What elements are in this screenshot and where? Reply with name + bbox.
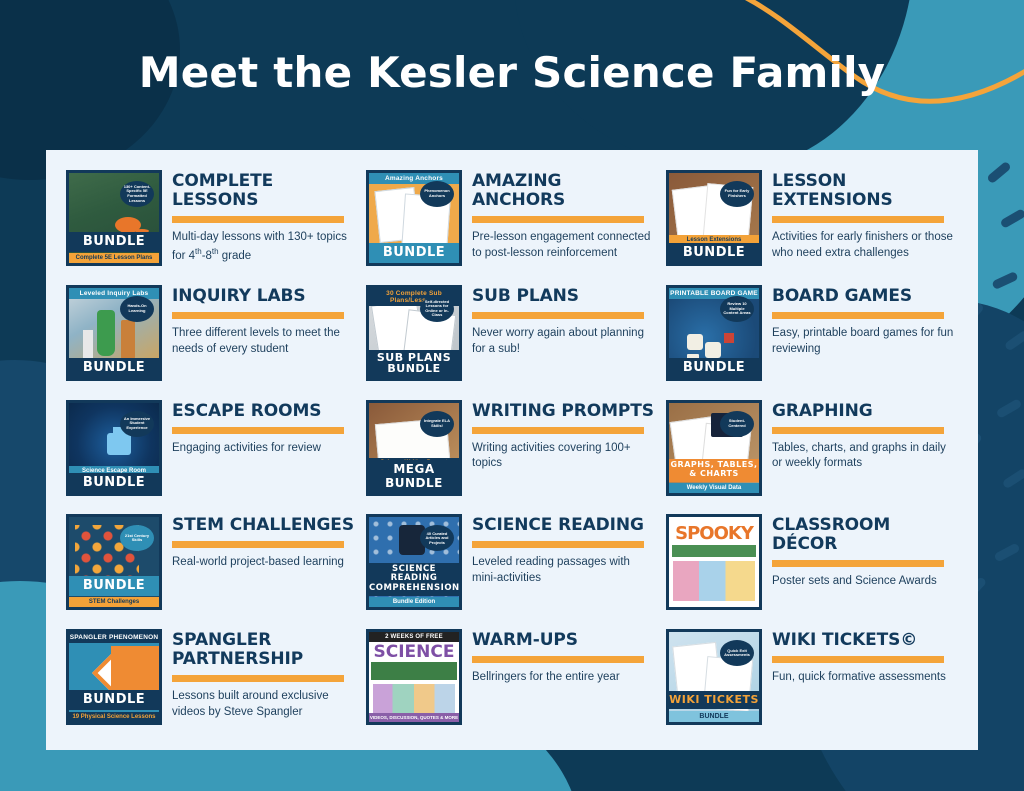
thumbnail-badge: 130+ Content-Specific 5E Formatted Lesso… bbox=[120, 181, 154, 207]
thumbnail-subcaption: Weekly Visual Data bbox=[669, 483, 759, 493]
product-item[interactable]: 30 Complete Sub Plans/Lessons Self-direc… bbox=[366, 281, 658, 396]
product-title: BOARD GAMES bbox=[772, 287, 958, 306]
product-text: INQUIRY LABS Three different levels to m… bbox=[172, 285, 358, 358]
product-description: Easy, printable board games for fun revi… bbox=[772, 326, 958, 358]
product-title: INQUIRY LABS bbox=[172, 287, 358, 306]
product-thumbnail[interactable]: 40 Curated Articles and Projects Bundle … bbox=[366, 514, 462, 610]
product-description: Pre-lesson engagement connected to post-… bbox=[472, 230, 658, 262]
product-title: COMPLETE LESSONS bbox=[172, 172, 358, 210]
thumbnail-caption: BUNDLE bbox=[669, 243, 759, 263]
product-item[interactable]: Leveled Inquiry Labs Hands-On Learning B… bbox=[66, 281, 358, 396]
product-item[interactable]: Amazing Anchors Phenomenon Anchors BUNDL… bbox=[366, 166, 658, 281]
thumbnail-subcaption: BUNDLE bbox=[669, 711, 759, 722]
product-item[interactable]: SPANGLER PHENOMENON 19 Physical Science … bbox=[66, 625, 358, 740]
accent-rule bbox=[772, 656, 944, 663]
thumbnail-caption: BUNDLE bbox=[369, 243, 459, 263]
accent-rule bbox=[172, 541, 344, 548]
product-description: Activities for early finishers or those … bbox=[772, 230, 958, 262]
accent-rule bbox=[172, 216, 344, 223]
accent-rule bbox=[772, 216, 944, 223]
product-title: SUB PLANS bbox=[472, 287, 658, 306]
product-thumbnail[interactable]: An Immersive Student Experience Science … bbox=[66, 400, 162, 496]
thumbnail-subcaption: Complete 5E Lesson Plans bbox=[69, 253, 159, 263]
product-item[interactable]: Integrate ELA Skills! Science Writing Pr… bbox=[366, 396, 658, 511]
product-description: Poster sets and Science Awards bbox=[772, 574, 958, 590]
poster-canvas: Meet the Kesler Science Family 130+ Cont… bbox=[0, 0, 1024, 791]
decor-dash bbox=[993, 542, 1020, 562]
thumbnail-art: SCIENCE bbox=[369, 632, 459, 722]
product-title: SCIENCE READING bbox=[472, 516, 658, 535]
product-text: WARM-UPS Bellringers for the entire year bbox=[472, 629, 658, 686]
page-title: Meet the Kesler Science Family bbox=[0, 48, 1024, 97]
product-description: Leveled reading passages with mini-activ… bbox=[472, 555, 658, 587]
accent-rule bbox=[472, 541, 644, 548]
thumbnail-subcaption: VIDEOS, DISCUSSION, QUOTES & MORE bbox=[369, 713, 459, 722]
thumbnail-caption: BUNDLE bbox=[69, 232, 159, 252]
product-thumbnail[interactable]: Integrate ELA Skills! Science Writing Pr… bbox=[366, 400, 462, 496]
product-item[interactable]: 21st Century Skills STEM Challenges BUND… bbox=[66, 510, 358, 625]
product-thumbnail[interactable]: Student-Centered Weekly Visual Data GRAP… bbox=[666, 400, 762, 496]
thumbnail-caption: BUNDLE bbox=[69, 576, 159, 596]
product-grid: 130+ Content-Specific 5E Formatted Lesso… bbox=[66, 166, 958, 740]
product-title: SPANGLER PARTNERSHIP bbox=[172, 631, 358, 669]
product-title: ESCAPE ROOMS bbox=[172, 402, 358, 421]
decor-dash bbox=[1002, 468, 1024, 490]
product-text: SCIENCE READING Leveled reading passages… bbox=[472, 514, 658, 587]
decor-dash bbox=[1004, 329, 1024, 351]
accent-rule bbox=[172, 312, 344, 319]
product-item[interactable]: An Immersive Student Experience Science … bbox=[66, 396, 358, 511]
product-description: Writing activities covering 100+ topics bbox=[472, 441, 658, 473]
product-description: Never worry again about planning for a s… bbox=[472, 326, 658, 358]
accent-rule bbox=[472, 312, 644, 319]
thumbnail-topcaption: SPANGLER PHENOMENON bbox=[69, 632, 159, 643]
product-item[interactable]: SPOOKY CLASSROOM DÉCOR Poster sets and S… bbox=[666, 510, 958, 625]
product-text: WRITING PROMPTS Writing activities cover… bbox=[472, 400, 658, 473]
product-description: Three different levels to meet the needs… bbox=[172, 326, 358, 358]
product-title: WRITING PROMPTS bbox=[472, 402, 658, 421]
thumbnail-caption: BUNDLE bbox=[69, 358, 159, 378]
product-item[interactable]: Student-Centered Weekly Visual Data GRAP… bbox=[666, 396, 958, 511]
thumbnail-badge: An Immersive Student Experience bbox=[120, 411, 154, 437]
product-description: Engaging activities for review bbox=[172, 441, 358, 457]
accent-rule bbox=[472, 656, 644, 663]
thumbnail-badge: Self-directed Lessons for Online or In-C… bbox=[420, 296, 454, 322]
product-item[interactable]: SCIENCE 2 WEEKS OF FREE VIDEOS, DISCUSSI… bbox=[366, 625, 658, 740]
thumbnail-badge: Student-Centered bbox=[720, 411, 754, 437]
product-title: WARM-UPS bbox=[472, 631, 658, 650]
product-description: Lessons built around exclusive videos by… bbox=[172, 689, 358, 721]
thumbnail-caption: BUNDLE bbox=[669, 358, 759, 378]
thumbnail-subcaption: STEM Challenges bbox=[69, 597, 159, 607]
product-text: SPANGLER PARTNERSHIP Lessons built aroun… bbox=[172, 629, 358, 721]
product-text: LESSON EXTENSIONS Activities for early f… bbox=[772, 170, 958, 262]
thumbnail-subcaption: 19 Physical Science Lessons bbox=[69, 712, 159, 722]
product-description: Multi-day lessons with 130+ topics for 4… bbox=[172, 230, 358, 265]
thumbnail-badge: Integrate ELA Skills! bbox=[420, 411, 454, 437]
product-title: GRAPHING bbox=[772, 402, 958, 421]
thumbnail-caption: GRAPHS, TABLES, & CHARTS bbox=[669, 459, 759, 482]
product-text: STEM CHALLENGES Real-world project-based… bbox=[172, 514, 358, 571]
product-description: Tables, charts, and graphs in daily or w… bbox=[772, 441, 958, 473]
product-description: Bellringers for the entire year bbox=[472, 670, 658, 686]
product-text: BOARD GAMES Easy, printable board games … bbox=[772, 285, 958, 358]
product-item[interactable]: 130+ Content-Specific 5E Formatted Lesso… bbox=[66, 166, 358, 281]
thumbnail-badge: Review 10 Multiple Content Areas bbox=[720, 296, 754, 322]
accent-rule bbox=[472, 216, 644, 223]
thumbnail-caption: BUNDLE bbox=[69, 473, 159, 493]
product-description: Real-world project-based learning bbox=[172, 555, 358, 571]
accent-rule bbox=[772, 427, 944, 434]
product-thumbnail[interactable]: SPANGLER PHENOMENON 19 Physical Science … bbox=[66, 629, 162, 725]
product-thumbnail[interactable]: SPOOKY bbox=[666, 514, 762, 610]
product-text: CLASSROOM DÉCOR Poster sets and Science … bbox=[772, 514, 958, 590]
product-thumbnail[interactable]: SCIENCE 2 WEEKS OF FREE VIDEOS, DISCUSSI… bbox=[366, 629, 462, 725]
thumbnail-badge: Hands-On Learning bbox=[120, 296, 154, 322]
thumbnail-art: SPOOKY bbox=[669, 517, 759, 607]
product-thumbnail[interactable]: 21st Century Skills STEM Challenges BUND… bbox=[66, 514, 162, 610]
decor-dash bbox=[991, 271, 1018, 290]
product-thumbnail[interactable]: Fun for Early Finishers Lesson Extension… bbox=[666, 170, 762, 266]
product-thumbnail[interactable]: Quick Exit Assessments BUNDLE WIKI TICKE… bbox=[666, 629, 762, 725]
thumbnail-badge: Quick Exit Assessments bbox=[720, 640, 754, 666]
product-item[interactable]: PRINTABLE BOARD GAME Review 10 Multiple … bbox=[666, 281, 958, 396]
decor-dash bbox=[995, 398, 1022, 419]
thumbnail-caption: MEGA BUNDLE bbox=[369, 460, 459, 493]
thumbnail-badge: Fun for Early Finishers bbox=[720, 181, 754, 207]
product-text: WIKI TICKETS© Fun, quick formative asses… bbox=[772, 629, 958, 686]
product-title: WIKI TICKETS© bbox=[772, 631, 958, 650]
product-thumbnail[interactable]: PRINTABLE BOARD GAME Review 10 Multiple … bbox=[666, 285, 762, 381]
product-thumbnail[interactable]: 30 Complete Sub Plans/Lessons Self-direc… bbox=[366, 285, 462, 381]
product-title: CLASSROOM DÉCOR bbox=[772, 516, 958, 554]
accent-rule bbox=[172, 427, 344, 434]
product-text: COMPLETE LESSONS Multi-day lessons with … bbox=[172, 170, 358, 265]
thumbnail-caption: SCIENCE READING COMPREHENSION bbox=[369, 563, 459, 597]
product-thumbnail[interactable]: 130+ Content-Specific 5E Formatted Lesso… bbox=[66, 170, 162, 266]
accent-rule bbox=[472, 427, 644, 434]
decor-dash bbox=[999, 208, 1024, 229]
decor-dash bbox=[986, 161, 1012, 185]
thumbnail-topcaption: 2 WEEKS OF FREE bbox=[369, 632, 459, 642]
product-text: AMAZING ANCHORS Pre-lesson engagement co… bbox=[472, 170, 658, 262]
product-text: GRAPHING Tables, charts, and graphs in d… bbox=[772, 400, 958, 473]
accent-rule bbox=[772, 312, 944, 319]
product-thumbnail[interactable]: Leveled Inquiry Labs Hands-On Learning B… bbox=[66, 285, 162, 381]
product-item[interactable]: 40 Curated Articles and Projects Bundle … bbox=[366, 510, 658, 625]
thumbnail-caption: WIKI TICKETS bbox=[669, 691, 759, 709]
accent-rule bbox=[772, 560, 944, 567]
product-title: LESSON EXTENSIONS bbox=[772, 172, 958, 210]
product-item[interactable]: Quick Exit Assessments BUNDLE WIKI TICKE… bbox=[666, 625, 958, 740]
product-panel: 130+ Content-Specific 5E Formatted Lesso… bbox=[46, 150, 978, 750]
thumbnail-badge: Phenomenon Anchors bbox=[420, 181, 454, 207]
product-description: Fun, quick formative assessments bbox=[772, 670, 958, 686]
accent-rule bbox=[172, 675, 344, 682]
product-title: STEM CHALLENGES bbox=[172, 516, 358, 535]
product-text: ESCAPE ROOMS Engaging activities for rev… bbox=[172, 400, 358, 457]
product-text: SUB PLANS Never worry again about planni… bbox=[472, 285, 658, 358]
product-title: AMAZING ANCHORS bbox=[472, 172, 658, 210]
thumbnail-caption: SUB PLANS BUNDLE bbox=[369, 350, 459, 378]
thumbnail-subcaption: Bundle Edition bbox=[369, 597, 459, 607]
product-thumbnail[interactable]: Amazing Anchors Phenomenon Anchors BUNDL… bbox=[366, 170, 462, 266]
thumbnail-caption: BUNDLE bbox=[69, 690, 159, 710]
product-item[interactable]: Fun for Early Finishers Lesson Extension… bbox=[666, 166, 958, 281]
